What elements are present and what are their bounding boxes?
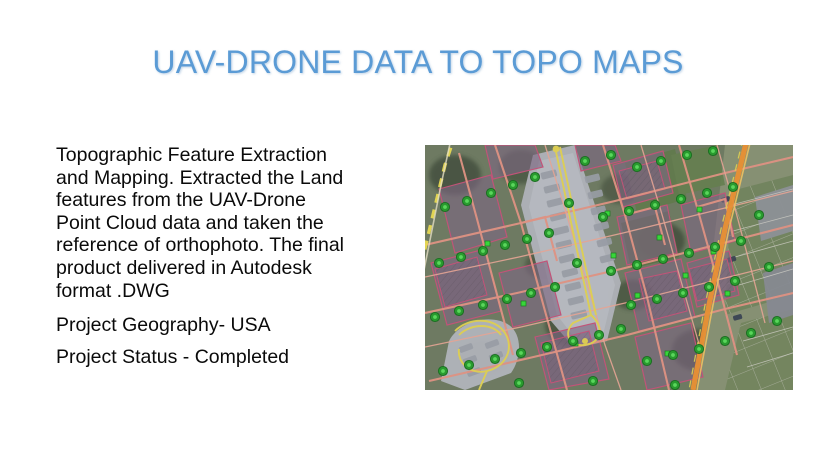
paragraph-line: Topographic Feature Extraction <box>56 144 327 166</box>
paragraph-line: and Mapping. Extracted the Land <box>56 167 343 189</box>
project-geography-line: Project Geography- USA <box>56 314 408 337</box>
description-paragraph: Topographic Feature Extraction and Mappi… <box>56 144 408 302</box>
orthophoto-svg <box>425 145 793 390</box>
paragraph-line: format .DWG <box>56 280 170 302</box>
paragraph-line: features from the UAV-Drone <box>56 189 306 211</box>
paragraph-line: reference of orthophoto. The final <box>56 234 344 256</box>
orthophoto-content <box>425 145 793 390</box>
page-title: UAV-DRONE DATA TO TOPO MAPS <box>0 44 836 81</box>
photo-tint-overlay <box>425 145 793 390</box>
body-text-block: Topographic Feature Extraction and Mappi… <box>56 144 408 368</box>
paragraph-line: Point Cloud data and taken the <box>56 212 324 234</box>
paragraph-line: product delivered in Autodesk <box>56 257 312 279</box>
aerial-orthophoto-image <box>425 145 793 390</box>
project-status-line: Project Status - Completed <box>56 346 408 369</box>
